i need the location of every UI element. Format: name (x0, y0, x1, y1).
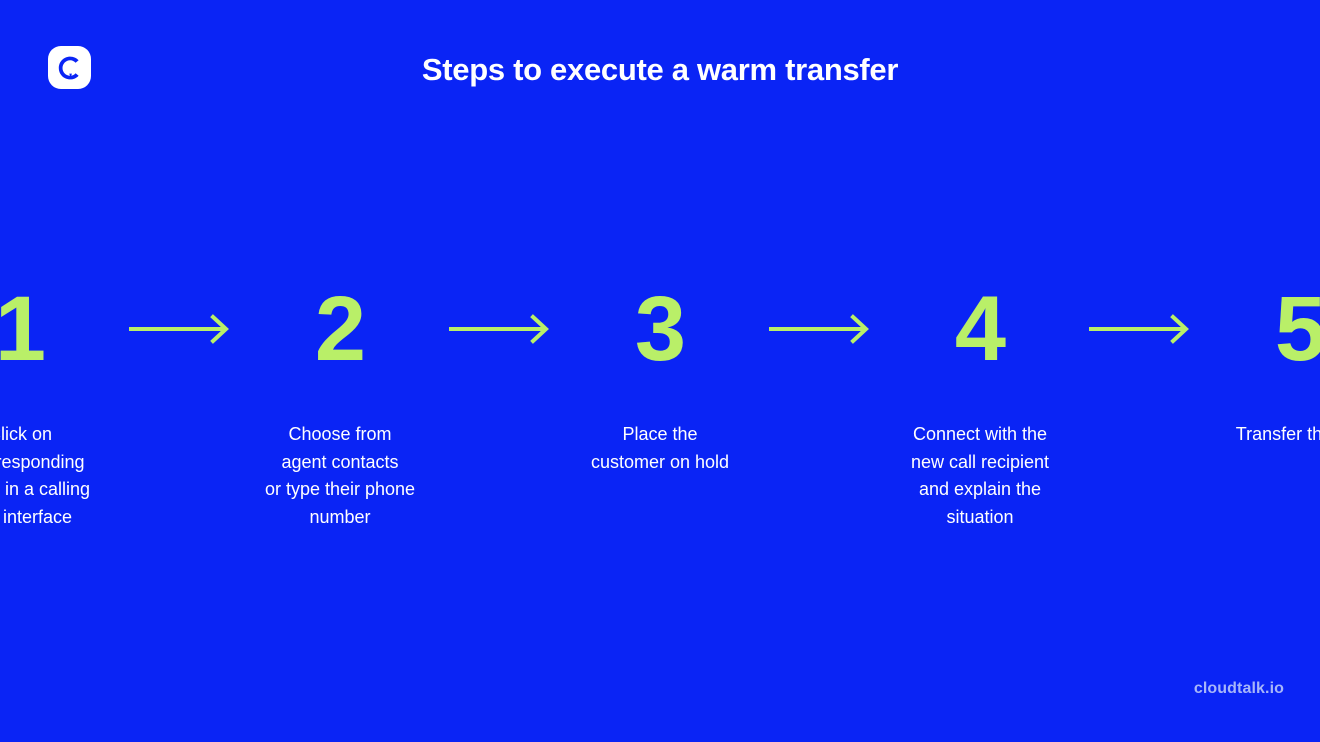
step-caption: Connect with the new call recipient and … (911, 421, 1049, 531)
page-title: Steps to execute a warm transfer (0, 48, 1320, 92)
step-number: 1 (0, 283, 45, 375)
arrow-right-icon (448, 314, 552, 344)
step-3: 3 Place the customer on hold (552, 283, 768, 476)
step-caption: Choose from agent contacts or type their… (265, 421, 415, 531)
connector-arrow-1 (128, 283, 232, 375)
connector-arrow-3 (768, 283, 872, 375)
steps-row: 1 Click on a corresponding button in a c… (0, 283, 1320, 531)
step-5: 5 Transfer the call (1192, 283, 1320, 449)
connector-arrow-4 (1088, 283, 1192, 375)
step-4: 4 Connect with the new call recipient an… (872, 283, 1088, 531)
step-number: 2 (315, 283, 365, 375)
connector-arrow-2 (448, 283, 552, 375)
arrow-right-icon (128, 314, 232, 344)
step-number: 4 (955, 283, 1005, 375)
step-2: 2 Choose from agent contacts or type the… (232, 283, 448, 531)
step-number: 5 (1275, 283, 1320, 375)
step-caption: Transfer the call (1236, 421, 1320, 449)
step-caption: Click on a corresponding button in a cal… (0, 421, 90, 531)
step-number: 3 (635, 283, 685, 375)
arrow-right-icon (1088, 314, 1192, 344)
arrow-right-icon (768, 314, 872, 344)
footer-watermark: cloudtalk.io (1194, 680, 1284, 698)
step-caption: Place the customer on hold (591, 421, 729, 476)
step-1: 1 Click on a corresponding button in a c… (0, 283, 128, 531)
